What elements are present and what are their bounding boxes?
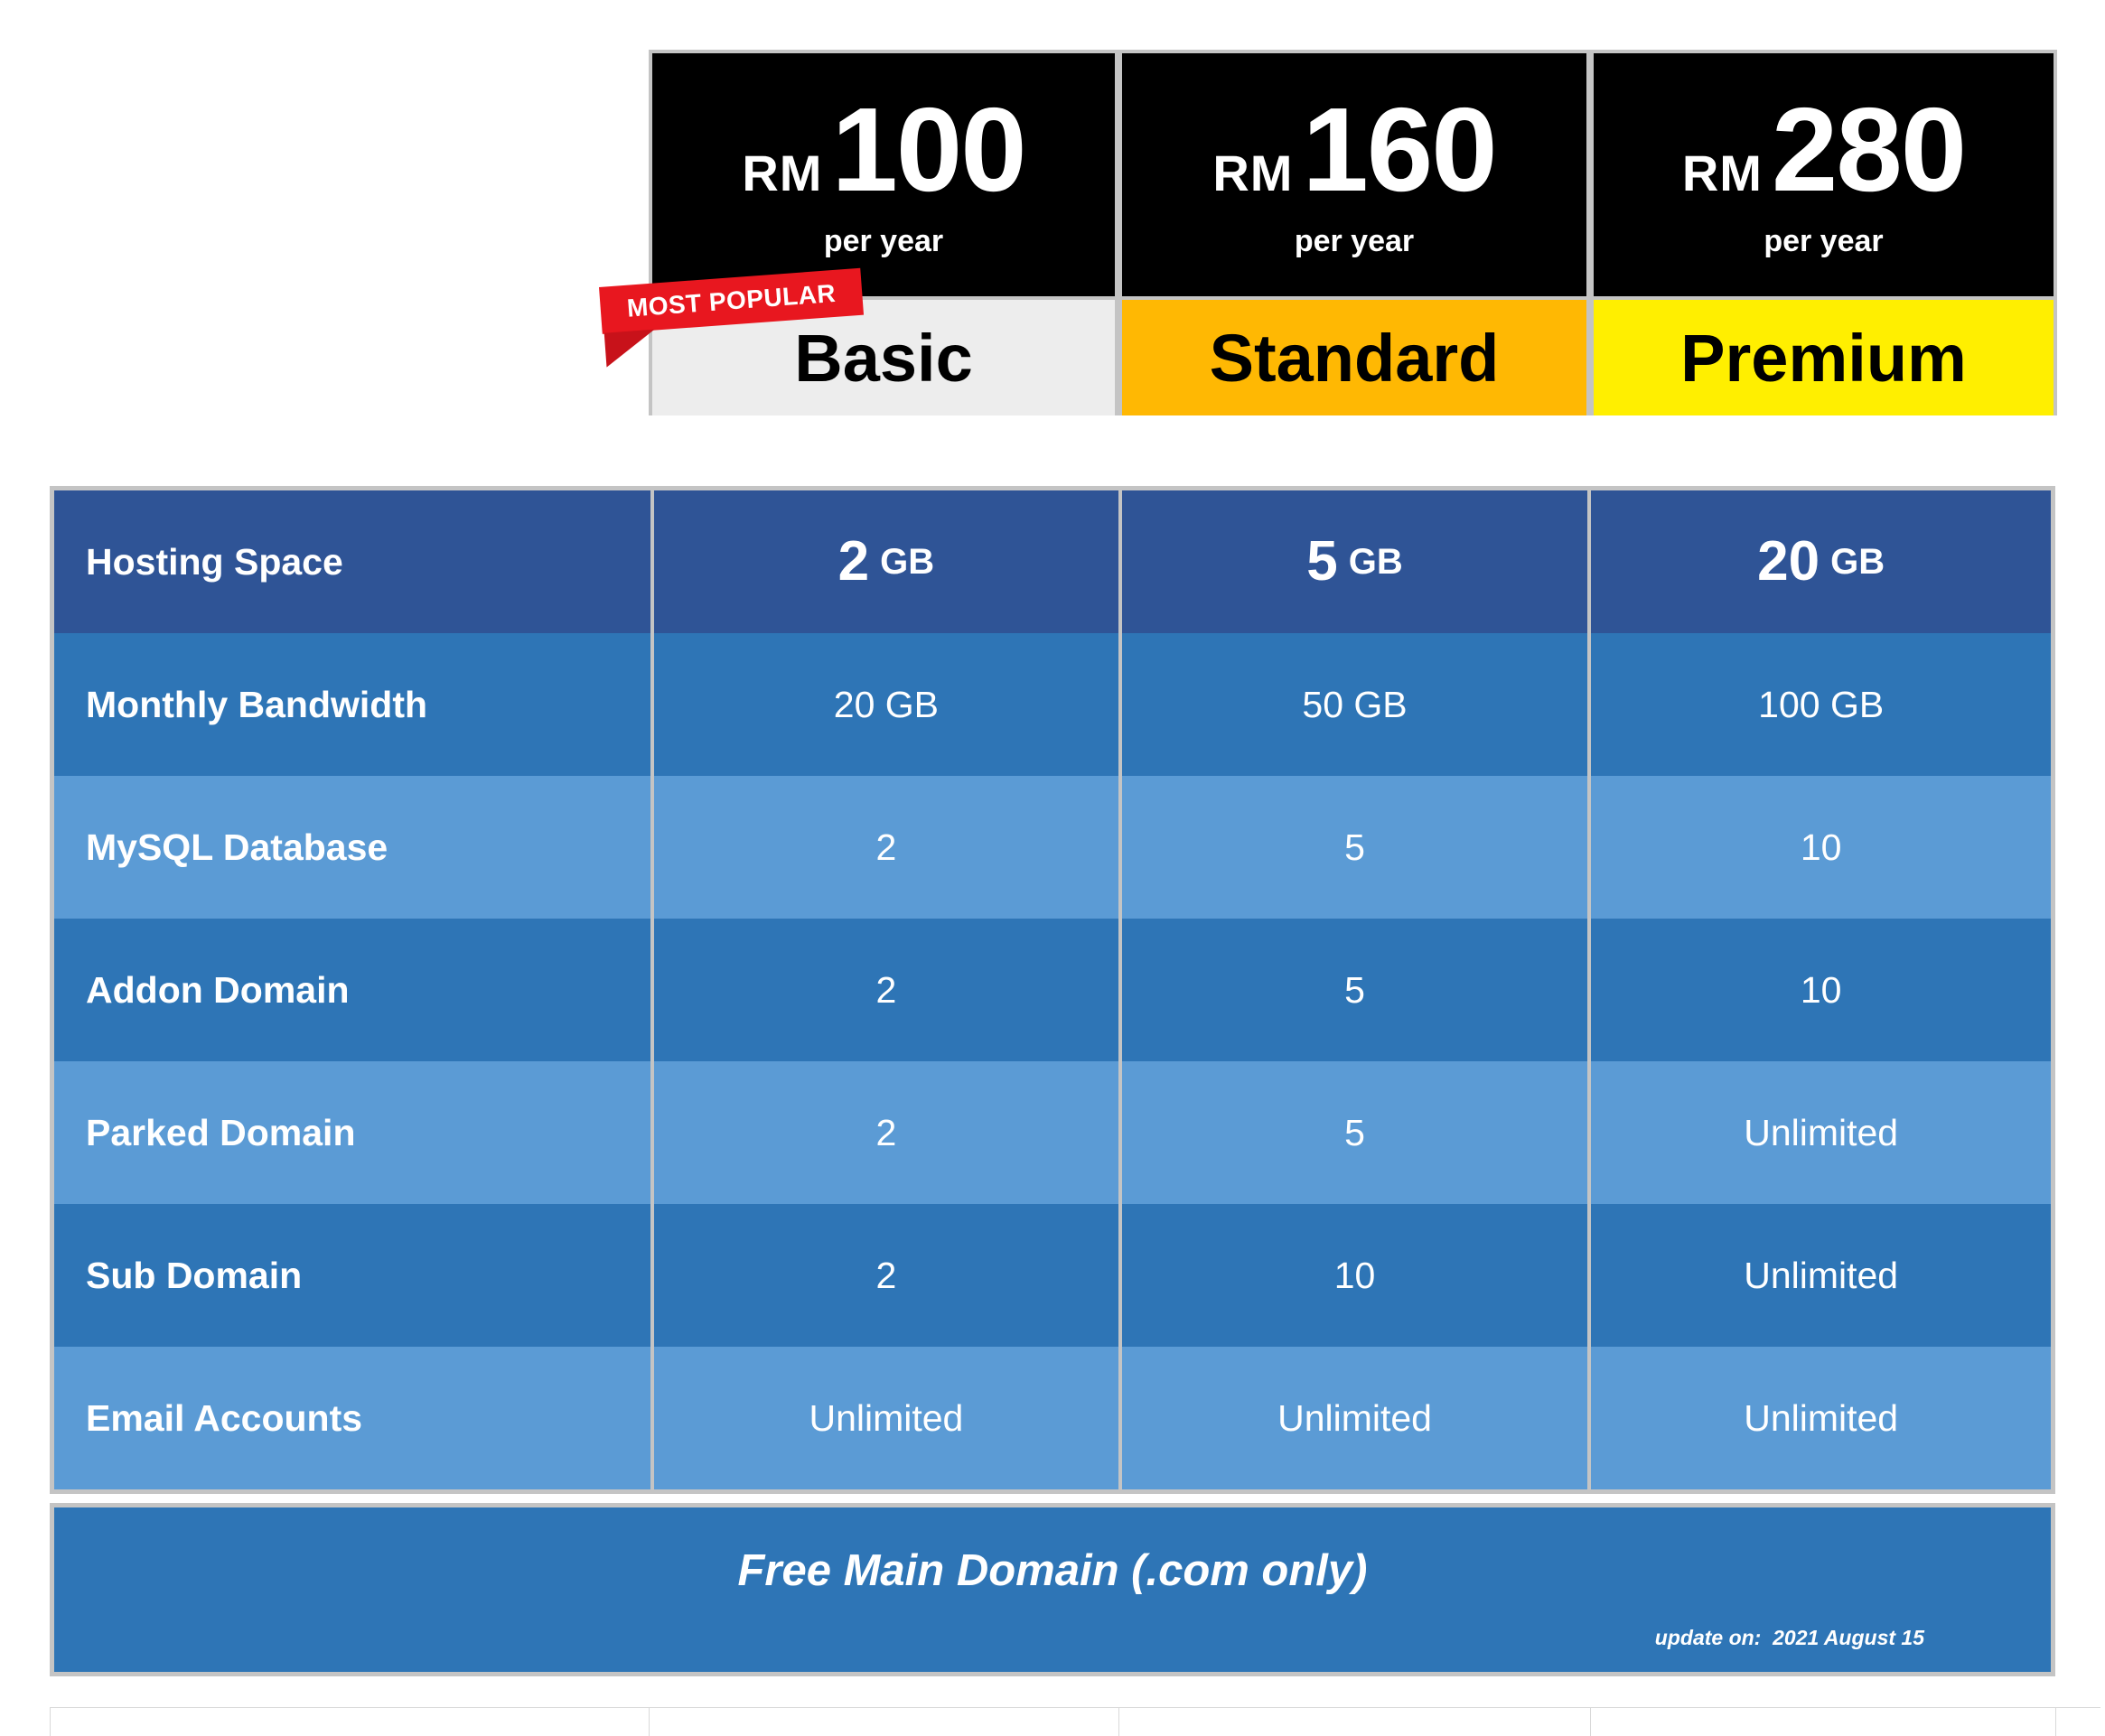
most-popular-badge-body: MOST POPULAR [599,268,864,334]
feature-value-basic: 2 GB [650,490,1118,633]
footer-banner: Free Main Domain (.com only) update on: … [50,1503,2055,1676]
feature-comparison-table: Hosting Space 2 GB 5 GB 20 GB Monthly Ba… [50,486,2055,1494]
feature-value-standard: 5 [1118,919,1588,1061]
feature-value-standard: Unlimited [1118,1347,1588,1489]
feature-value-standard: 10 [1118,1204,1588,1347]
feature-value-premium: Unlimited [1587,1347,2051,1489]
feature-value-premium: 10 [1587,776,2051,919]
price-amount: 280 [1772,90,1965,210]
feature-value-premium: 20 GB [1587,490,2051,633]
feature-value-basic: 20 GB [650,633,1118,776]
table-row: Sub Domain 2 10 Unlimited [54,1204,2051,1347]
most-popular-badge-tail [604,330,658,368]
most-popular-badge-label: MOST POPULAR [626,279,837,323]
price-line: RM 160 [1212,90,1495,210]
footer-title: Free Main Domain (.com only) [54,1545,2051,1596]
feature-label: Email Accounts [54,1347,650,1489]
feature-value-standard: 5 [1118,1061,1588,1204]
price-card-premium[interactable]: RM 280 per year [1590,50,2057,300]
price-amount: 100 [831,90,1024,210]
feature-label: MySQL Database [54,776,650,919]
value-number: 2 [838,534,869,590]
price-period: per year [1295,224,1414,259]
table-row: Hosting Space 2 GB 5 GB 20 GB [54,490,2051,633]
table-row: Email Accounts Unlimited Unlimited Unlim… [54,1347,2051,1489]
price-period: per year [1764,224,1883,259]
price-line: RM 280 [1682,90,1965,210]
feature-value-basic: Unlimited [650,1347,1118,1489]
feature-label: Hosting Space [54,490,650,633]
currency-symbol: RM [742,148,822,199]
value-number: 5 [1306,534,1337,590]
value-unit: GB [1349,544,1403,580]
feature-value-basic: 2 [650,1061,1118,1204]
plan-name-standard[interactable]: Standard [1118,300,1590,415]
feature-value-premium: Unlimited [1587,1061,2051,1204]
price-period: per year [824,224,943,259]
currency-symbol: RM [1682,148,1763,199]
feature-label: Sub Domain [54,1204,650,1347]
currency-symbol: RM [1212,148,1293,199]
feature-value-standard: 50 GB [1118,633,1588,776]
value-number: 20 [1757,534,1820,590]
feature-value-basic: 2 [650,776,1118,919]
price-card-basic[interactable]: RM 100 per year [649,50,1118,300]
table-row: MySQL Database 2 5 10 [54,776,2051,919]
feature-label: Addon Domain [54,919,650,1061]
feature-value-basic: 2 [650,919,1118,1061]
feature-value-standard: 5 [1118,776,1588,919]
feature-value-premium: 10 [1587,919,2051,1061]
feature-value-basic: 2 [650,1204,1118,1347]
table-row: Monthly Bandwidth 20 GB 50 GB 100 GB [54,633,2051,776]
plan-name-premium[interactable]: Premium [1590,300,2057,415]
feature-value-premium: 100 GB [1587,633,2051,776]
value-unit: GB [1830,544,1885,580]
feature-value-premium: Unlimited [1587,1204,2051,1347]
feature-label: Parked Domain [54,1061,650,1204]
feature-label: Monthly Bandwidth [54,633,650,776]
price-card-standard[interactable]: RM 160 per year [1118,50,1590,300]
footer-update-date: update on: 2021 August 15 [1655,1626,1924,1650]
price-amount: 160 [1302,90,1495,210]
price-line: RM 100 [742,90,1024,210]
price-header-row: RM 100 per year RM 160 per year RM 280 p… [649,50,2057,300]
table-row: Addon Domain 2 5 10 [54,919,2051,1061]
table-row: Parked Domain 2 5 Unlimited [54,1061,2051,1204]
feature-value-standard: 5 GB [1118,490,1588,633]
value-unit: GB [880,544,934,580]
